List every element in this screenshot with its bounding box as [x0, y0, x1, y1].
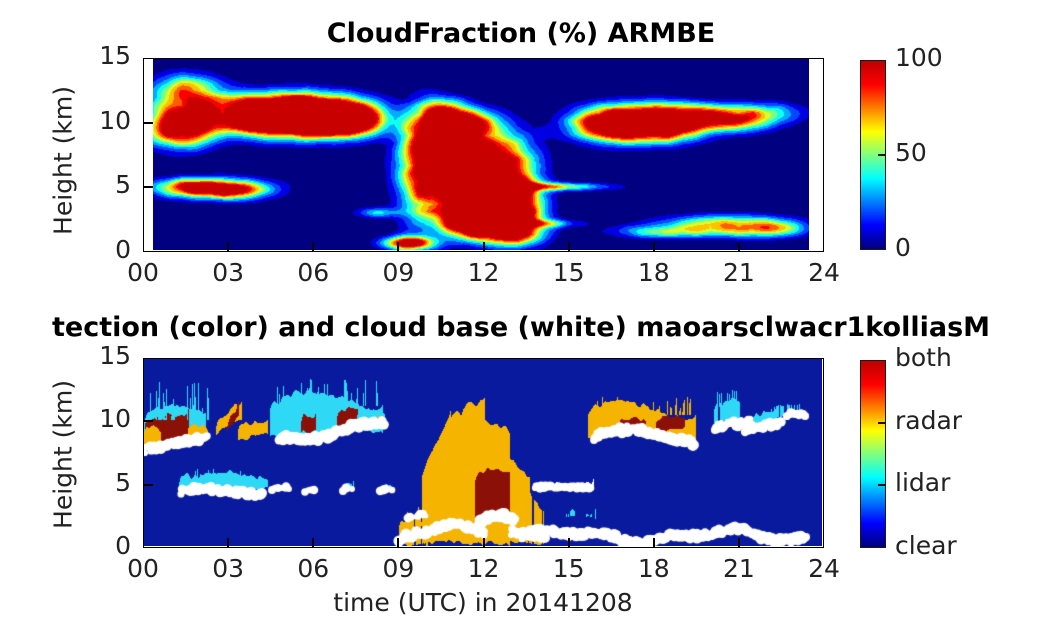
panel2-colorbar-tick-label: clear [895, 531, 957, 560]
panel2-xtick-label: 09 [372, 554, 424, 583]
panel2-ytick-label: 10 [87, 404, 131, 433]
panel2-colorbar-tick-mark [878, 422, 885, 424]
panel1-xtick-label: 00 [117, 258, 169, 287]
panel1-plot-area [143, 58, 824, 252]
panel2-colorbar-tick-label: radar [895, 406, 962, 435]
panel1-ytick-label: 10 [87, 106, 131, 135]
panel2-xtick-label: 06 [287, 554, 339, 583]
panel1-ytick-mark [144, 186, 153, 188]
panel1-xtick-label: 18 [628, 258, 680, 287]
panel2-xtick-mark [483, 538, 485, 547]
panel1-xtick-mark [483, 242, 485, 251]
panel2-ytick-mark [144, 420, 153, 422]
panel1-ytick-mark [144, 122, 153, 124]
figure-canvas: CloudFraction (%) ARMBE Height (km) tect… [0, 0, 1042, 625]
panel2-xtick-label: 15 [543, 554, 595, 583]
panel2-xtick-mark [227, 538, 229, 547]
panel1-colorbar-tick-label: 50 [895, 138, 927, 167]
panel2-xtick-label: 24 [798, 554, 850, 583]
panel2-colorbar-tick-mark [878, 484, 885, 486]
panel1-xtick-mark [653, 242, 655, 251]
panel1-y-axis-label: Height (km) [49, 76, 78, 246]
panel2-colorbar-tick-label: both [895, 343, 952, 372]
panel2-xtick-mark [312, 538, 314, 547]
panel1-title: CloudFraction (%) ARMBE [0, 18, 1042, 49]
panel2-ytick-label: 5 [87, 468, 131, 497]
panel2-xtick-label: 18 [628, 554, 680, 583]
panel1-xtick-label: 12 [458, 258, 510, 287]
panel1-ytick-label: 15 [87, 41, 131, 70]
panel1-colorbar-tick-mark [878, 154, 885, 156]
panel2-xtick-label: 21 [713, 554, 765, 583]
panel2-xtick-label: 12 [458, 554, 510, 583]
panel2-xtick-mark [653, 538, 655, 547]
panel2-xtick-mark [397, 538, 399, 547]
panel1-xtick-mark [738, 242, 740, 251]
panel1-xtick-label: 15 [543, 258, 595, 287]
panel1-xtick-label: 09 [372, 258, 424, 287]
panel2-y-axis-label: Height (km) [49, 370, 78, 540]
panel2-ytick-label: 15 [87, 341, 131, 370]
panel1-xtick-mark [227, 242, 229, 251]
panel2-xtick-mark [738, 538, 740, 547]
panel2-plot-area [143, 358, 824, 548]
panel2-colorbar [860, 360, 886, 548]
panel2-xtick-label: 03 [202, 554, 254, 583]
panel1-colorbar-tick-label: 0 [895, 233, 911, 262]
panel1-xtick-label: 03 [202, 258, 254, 287]
x-axis-label: time (UTC) in 20141208 [243, 588, 723, 617]
panel2-title: tection (color) and cloud base (white) m… [52, 312, 990, 343]
panel1-xtick-mark [312, 242, 314, 251]
panel2-colorbar-tick-label: lidar [895, 468, 950, 497]
panel1-ytick-label: 5 [87, 170, 131, 199]
panel1-colorbar-tick-label: 100 [895, 43, 943, 72]
panel2-xtick-label: 00 [117, 554, 169, 583]
panel1-xtick-mark [397, 242, 399, 251]
panel1-xtick-label: 24 [798, 258, 850, 287]
panel2-ytick-mark [144, 484, 153, 486]
panel1-xtick-label: 21 [713, 258, 765, 287]
panel1-xtick-label: 06 [287, 258, 339, 287]
panel2-xtick-mark [568, 538, 570, 547]
panel1-xtick-mark [568, 242, 570, 251]
